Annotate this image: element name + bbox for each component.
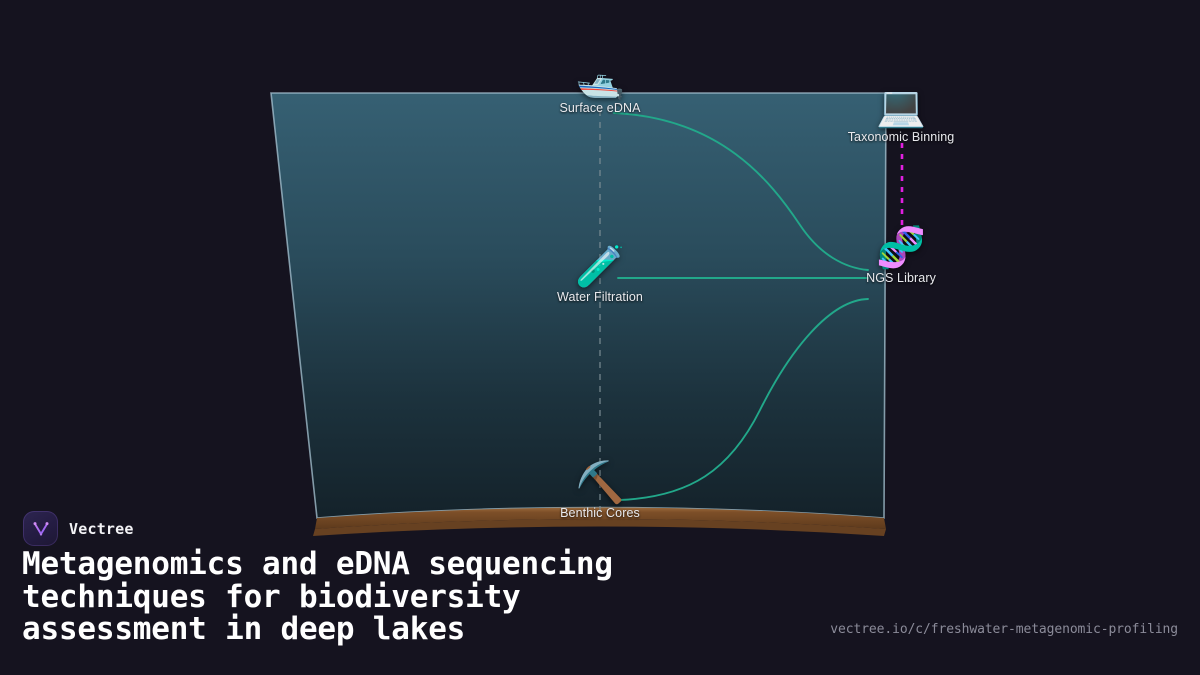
node-benthic-cores[interactable]: ⛏️ Benthic Cores xyxy=(480,461,720,520)
node-taxonomic-binning[interactable]: 💻 Taxonomic Binning xyxy=(781,85,1021,144)
node-label-benthic-cores: Benthic Cores xyxy=(480,506,720,520)
node-label-surface-edna: Surface eDNA xyxy=(480,101,720,115)
source-url: vectree.io/c/freshwater-metagenomic-prof… xyxy=(830,622,1178,637)
headline-line-3: assessment in deep lakes xyxy=(22,613,782,646)
slide-canvas: 🛥️ Surface eDNA 💻 Taxonomic Binning 🧪 Wa… xyxy=(0,0,1200,675)
laptop-icon: 💻 xyxy=(781,85,1021,129)
node-label-ngs-library: NGS Library xyxy=(781,271,1021,285)
node-ngs-library[interactable]: 🧬 NGS Library xyxy=(781,226,1021,285)
brand-lockup: Vectree xyxy=(23,511,134,546)
dna-helix-icon: 🧬 xyxy=(781,226,1021,270)
node-label-taxonomic-binning: Taxonomic Binning xyxy=(781,130,1021,144)
node-surface-edna[interactable]: 🛥️ Surface eDNA xyxy=(480,56,720,115)
headline-line-2: techniques for biodiversity xyxy=(22,581,782,614)
pickaxe-icon: ⛏️ xyxy=(480,461,720,505)
headline-line-1: Metagenomics and eDNA sequencing xyxy=(22,548,782,581)
page-title: Metagenomics and eDNA sequencing techniq… xyxy=(22,548,782,646)
motorboat-icon: 🛥️ xyxy=(480,56,720,100)
vectree-logo-icon xyxy=(23,511,58,546)
lake-water-body xyxy=(271,93,886,518)
brand-name: Vectree xyxy=(69,520,134,538)
test-tube-icon: 🧪 xyxy=(480,245,720,289)
node-water-filtration[interactable]: 🧪 Water Filtration xyxy=(480,245,720,304)
node-label-water-filtration: Water Filtration xyxy=(480,290,720,304)
